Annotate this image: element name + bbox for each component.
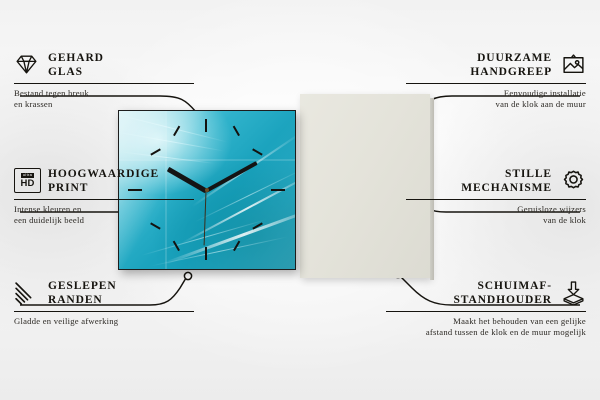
callout-description: Eenvoudige installatie van de klok aan d… (406, 88, 586, 110)
ultra-hd-icon: ultra HD (14, 168, 39, 193)
callout-gehard-glas: GEHARD GLAS Bestand tegen breuk en krass… (14, 52, 194, 110)
clock-hands-hub (205, 188, 209, 192)
product-infographic: AA 1.5V (0, 0, 600, 400)
callout-schuimafstandhouder: SCHUIMAF- STANDHOUDER Maakt het behouden… (386, 280, 586, 338)
tick-12 (205, 119, 207, 132)
callout-title: HOOGWAARDIGE PRINT (48, 168, 194, 195)
callout-description: Bestand tegen breuk en krassen (14, 88, 194, 110)
callout-title: GEHARD GLAS (48, 52, 194, 79)
callout-divider (386, 311, 586, 312)
bevelled-edges-icon (14, 280, 39, 305)
callout-divider (14, 199, 194, 200)
callout-divider (406, 83, 586, 84)
callout-stille-mechanisme: STILLE MECHANISME Geruisloze wijzers van… (406, 168, 586, 226)
callout-divider (14, 311, 194, 312)
callout-description: Intense kleuren en een duidelijk beeld (14, 204, 194, 226)
foam-spacer-icon (561, 280, 586, 305)
callout-title: GESLEPEN RANDEN (48, 280, 194, 307)
gear-icon (561, 168, 586, 193)
tick-3 (271, 189, 285, 191)
diamond-icon (14, 52, 39, 77)
callout-title: STILLE MECHANISME (406, 168, 552, 195)
callout-geslepen-randen: GESLEPEN RANDEN Gladde en veilige afwerk… (14, 280, 194, 327)
callout-description: Gladde en veilige afwerking (14, 316, 194, 327)
callout-hoogwaardige-print: ultra HD HOOGWAARDIGE PRINT Intense kleu… (14, 168, 194, 226)
tick-6 (205, 247, 207, 260)
callout-description: Maakt het behouden van een gelijke afsta… (386, 316, 586, 338)
callout-description: Geruisloze wijzers van de klok (406, 204, 586, 226)
callout-divider (406, 199, 586, 200)
callout-title: DUURZAME HANDGREEP (406, 52, 552, 79)
picture-frame-icon (561, 52, 586, 77)
callout-title: SCHUIMAF- STANDHOUDER (386, 280, 552, 307)
callout-divider (14, 83, 194, 84)
callout-duurzame-handgreep: DUURZAME HANDGREEP Eenvoudige installati… (406, 52, 586, 110)
